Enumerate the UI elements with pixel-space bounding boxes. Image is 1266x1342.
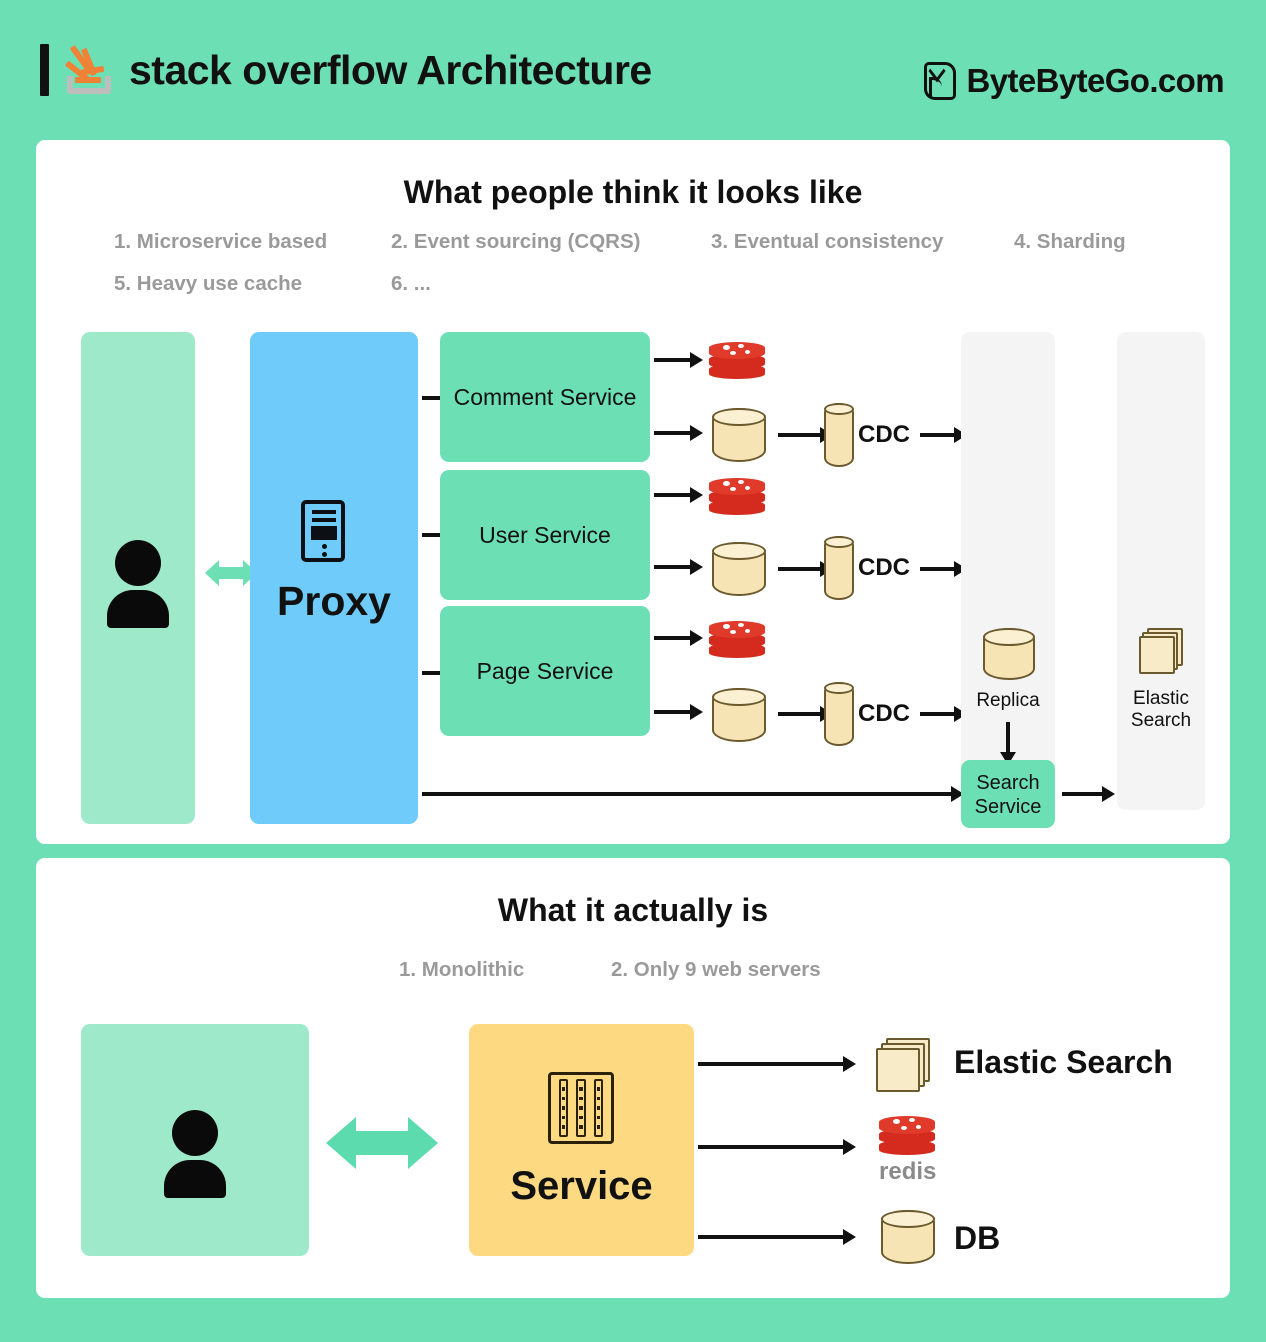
service-user-label: User Service bbox=[440, 522, 650, 549]
service-page[interactable]: Page Service bbox=[440, 606, 650, 736]
search-service-box[interactable]: Search Service bbox=[961, 760, 1055, 828]
user-icon bbox=[81, 332, 195, 824]
elastic-search-column[interactable]: Elastic Search bbox=[1117, 332, 1205, 810]
arrow-page-redis bbox=[654, 636, 700, 640]
arrow-cdc-replica-2 bbox=[920, 567, 964, 571]
proxy-box[interactable]: Proxy bbox=[250, 332, 418, 824]
redis-icon bbox=[709, 340, 765, 382]
documents-icon bbox=[1139, 628, 1185, 676]
arrow-comment-db bbox=[654, 431, 700, 435]
bullet-3: 3. Eventual consistency bbox=[711, 230, 943, 254]
arrow-comment-redis bbox=[654, 358, 700, 362]
bullet-6: 6. ... bbox=[391, 272, 431, 296]
panel-bottom-title: What it actually is bbox=[36, 892, 1230, 929]
client-column[interactable] bbox=[81, 332, 195, 824]
cdc-label: CDC bbox=[858, 554, 910, 582]
redis-icon bbox=[709, 476, 765, 518]
arrow-proxy-search-service bbox=[422, 792, 961, 796]
search-service-label-line1: Search bbox=[961, 772, 1055, 794]
database-cylinder-icon bbox=[712, 542, 766, 596]
bytebytego-logo-icon bbox=[924, 62, 956, 100]
brand-left: stack overflow Architecture bbox=[40, 42, 652, 98]
panel-what-people-think: What people think it looks like 1. Micro… bbox=[36, 140, 1230, 844]
redis-icon bbox=[709, 619, 765, 661]
bullet-2: 2. Event sourcing (CQRS) bbox=[391, 230, 640, 254]
brand-right[interactable]: ByteByteGo.com bbox=[924, 62, 1224, 100]
client-box[interactable] bbox=[81, 1024, 309, 1256]
replica-label: Replica bbox=[961, 690, 1055, 711]
elastic-search-label-line2: Search bbox=[1117, 710, 1205, 731]
cdc-queue-icon bbox=[824, 682, 854, 746]
redis-icon bbox=[879, 1114, 935, 1158]
page-header: stack overflow Architecture ByteByteGo.c… bbox=[0, 0, 1266, 140]
bullet-web-servers: 2. Only 9 web servers bbox=[611, 958, 821, 982]
target-redis-label: redis bbox=[879, 1158, 935, 1186]
proxy-label: Proxy bbox=[250, 578, 418, 625]
arrow-service-elastic bbox=[698, 1062, 853, 1066]
panel-what-it-actually-is: What it actually is 1. Monolithic 2. Onl… bbox=[36, 858, 1230, 1298]
arrow-db-cdc-3 bbox=[778, 712, 830, 716]
service-page-label: Page Service bbox=[440, 658, 650, 685]
documents-icon bbox=[876, 1038, 934, 1092]
service-comment-label: Comment Service bbox=[440, 384, 650, 411]
arrow-cdc-replica-3 bbox=[920, 712, 964, 716]
database-cylinder-icon bbox=[881, 1210, 935, 1264]
arrow-page-db bbox=[654, 710, 700, 714]
service-box[interactable]: Service bbox=[469, 1024, 694, 1256]
target-db-label: DB bbox=[954, 1220, 1000, 1257]
service-user[interactable]: User Service bbox=[440, 470, 650, 600]
bullet-monolithic: 1. Monolithic bbox=[399, 958, 524, 982]
cdc-queue-icon bbox=[824, 403, 854, 467]
search-service-label-line2: Service bbox=[961, 796, 1055, 818]
user-icon bbox=[81, 1024, 309, 1256]
server-rack-icon bbox=[548, 1072, 614, 1144]
brand-name: ByteByteGo.com bbox=[966, 62, 1224, 100]
arrow-db-cdc-2 bbox=[778, 567, 830, 571]
bullet-5: 5. Heavy use cache bbox=[114, 272, 302, 296]
arrow-replica-search-service bbox=[1006, 722, 1010, 762]
arrow-user-db bbox=[654, 565, 700, 569]
arrow-service-db bbox=[698, 1235, 853, 1239]
database-cylinder-icon bbox=[712, 688, 766, 742]
target-elastic-search-label: Elastic Search bbox=[954, 1044, 1173, 1081]
cdc-queue-icon bbox=[824, 536, 854, 600]
bullet-4: 4. Sharding bbox=[1014, 230, 1126, 254]
database-cylinder-icon bbox=[712, 408, 766, 462]
elastic-search-label-line1: Elastic bbox=[1117, 688, 1205, 709]
service-label: Service bbox=[469, 1164, 694, 1209]
cdc-label: CDC bbox=[858, 700, 910, 728]
client-service-arrow bbox=[326, 1114, 438, 1172]
arrow-cdc-replica-1 bbox=[920, 433, 964, 437]
cdc-label: CDC bbox=[858, 421, 910, 449]
arrow-search-service-elastic bbox=[1062, 792, 1112, 796]
stack-overflow-logo-icon bbox=[61, 42, 117, 98]
arrow-db-cdc-1 bbox=[778, 433, 830, 437]
arrow-user-redis bbox=[654, 493, 700, 497]
service-comment[interactable]: Comment Service bbox=[440, 332, 650, 462]
arrow-service-redis bbox=[698, 1145, 853, 1149]
page-title: stack overflow Architecture bbox=[129, 47, 652, 94]
server-tower-icon bbox=[301, 500, 345, 562]
panel-top-title: What people think it looks like bbox=[36, 174, 1230, 211]
bullet-1: 1. Microservice based bbox=[114, 230, 327, 254]
title-tick-mark bbox=[40, 44, 49, 96]
database-cylinder-icon bbox=[983, 628, 1035, 680]
